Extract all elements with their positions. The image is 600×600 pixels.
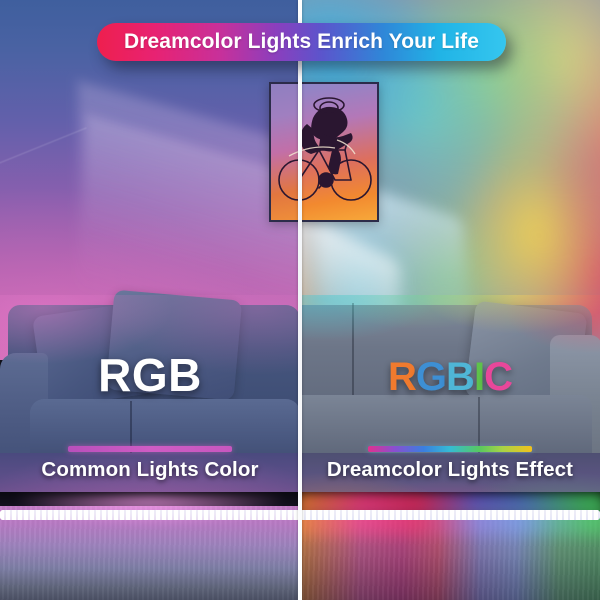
left-caption: Common Lights Color <box>0 458 300 482</box>
right-led-diodes <box>300 510 600 520</box>
framed-wall-art <box>269 82 379 222</box>
right-headline-letter-r-0: R <box>388 355 416 399</box>
right-floor <box>300 492 600 600</box>
headline-banner: Dreamcolor Lights Enrich Your Life <box>97 23 506 61</box>
left-floor <box>0 492 300 600</box>
center-divider <box>298 0 302 600</box>
left-led-strip <box>0 510 300 520</box>
left-headline: RGB <box>0 348 300 402</box>
right-headline: RGBIC <box>300 355 600 400</box>
right-headline-letter-i-3: I <box>474 355 484 399</box>
right-caption: Dreamcolor Lights Effect <box>300 458 600 482</box>
left-comparison-panel: RGB Common Lights Color <box>0 0 300 600</box>
product-comparison-image: RGB Common Lights Color RGBIC <box>0 0 600 600</box>
right-headline-letter-c-4: C <box>484 355 512 399</box>
headline-banner-text: Dreamcolor Lights Enrich Your Life <box>124 30 479 54</box>
right-headline-letter-b-2: B <box>446 355 474 399</box>
bicycle-animal-artwork-icon <box>271 84 377 220</box>
left-led-diodes <box>0 510 300 520</box>
right-led-strip <box>300 510 600 520</box>
right-accent-line <box>368 446 532 452</box>
right-headline-letter-g-1: G <box>416 355 446 399</box>
left-accent-line <box>68 446 232 452</box>
